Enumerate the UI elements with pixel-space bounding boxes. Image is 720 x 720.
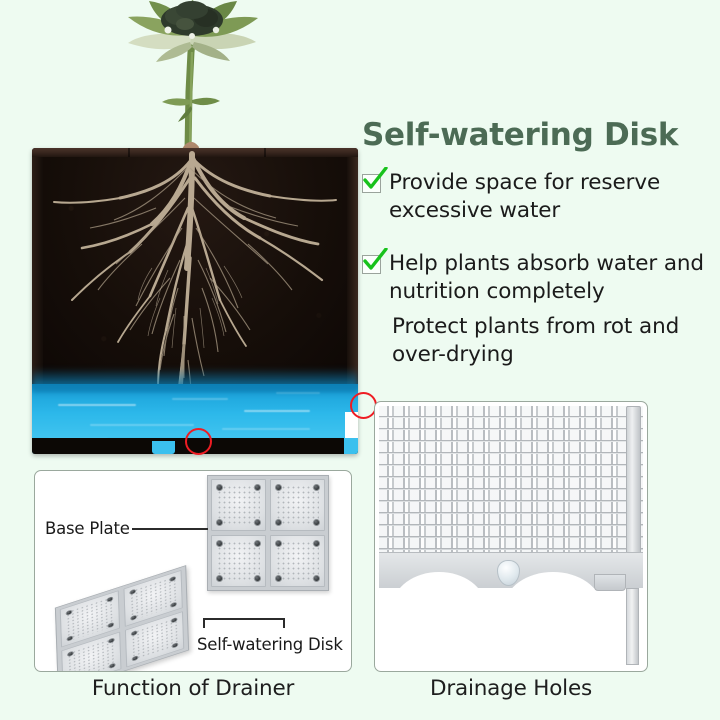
feature-bullet-1: Provide space for reserve excessive wate…: [362, 169, 714, 224]
base-plate-leader-line: [132, 528, 208, 530]
drain-notch-center: [152, 441, 175, 454]
drainage-holes-card-caption: Drainage Holes: [374, 676, 648, 701]
rattan-weave-panel: [379, 406, 643, 556]
drainer-diagram-card: Base Plate Self-watering Disk: [34, 470, 352, 672]
check-icon: [362, 248, 388, 272]
page-title: Self-watering Disk: [362, 118, 714, 152]
disk-leader-line-v: [203, 618, 205, 628]
base-plate-label: Base Plate: [45, 519, 130, 538]
feature-bullet-2: Help plants absorb water and nutrition c…: [362, 250, 714, 305]
drain-marker-bottom-icon: [185, 428, 212, 455]
planter-box: [32, 148, 358, 454]
feature-bullet-3-label: Protect plants from rot and over-drying: [392, 313, 714, 368]
planter-leg-right: [626, 588, 639, 665]
feature-bullet-1-label: Provide space for reserve excessive wate…: [389, 169, 714, 224]
disk-leader-line-v2: [283, 618, 285, 628]
drainer-card-caption: Function of Drainer: [34, 676, 352, 701]
planter-cross-section-figure: [30, 0, 360, 460]
drain-notch-right: [344, 438, 358, 454]
info-panel: Self-watering Disk Provide space for res…: [362, 118, 714, 386]
checkbox-1[interactable]: [362, 174, 381, 193]
self-watering-disk-image: [55, 565, 189, 672]
disk-leader-line-h: [203, 618, 284, 620]
drainage-holes-card: [374, 401, 648, 672]
feature-bullet-2-label: Help plants absorb water and nutrition c…: [389, 250, 714, 305]
frame-post-right: [626, 406, 641, 558]
base-plate-image: [207, 475, 329, 591]
plant-illustration: [30, 0, 360, 152]
self-watering-disk-label: Self-watering Disk: [197, 635, 343, 654]
leg-bracket: [594, 574, 626, 591]
drain-marker-right-icon: [350, 392, 377, 419]
checkbox-2[interactable]: [362, 255, 381, 274]
feature-bullet-3: Protect plants from rot and over-drying: [362, 313, 714, 368]
photo-backdrop: [379, 588, 643, 667]
check-icon: [362, 167, 388, 191]
